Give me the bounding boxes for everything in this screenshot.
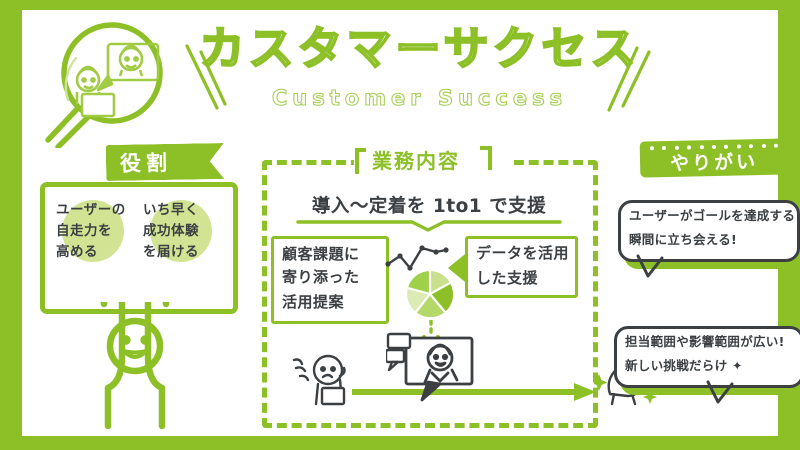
ribbon-role: 役割 [106, 144, 224, 180]
role-item-1-line-2: 自走力を [56, 221, 126, 242]
tag-reward-label: やりがい [640, 138, 789, 177]
role-board: ユーザーの 自走力を 高める いち早く 成功体験 を届ける [40, 182, 238, 314]
magnifier-icon [36, 18, 176, 148]
title-right-slashes [597, 44, 657, 124]
note-proposal-line-1: 顧客課題に [282, 243, 360, 266]
bubble-goal: ユーザーがゴールを達成する 瞬間に立ち会える! [618, 200, 800, 262]
support-agent-screen-icon [386, 330, 478, 406]
note-box-data: データを活用 した支援 [465, 236, 578, 298]
bubble-goal-line-2: 瞬間に立ち会える! [629, 229, 792, 251]
title-english: Customer Success [197, 86, 642, 110]
role-item-2-line-2: 成功体験 [143, 221, 199, 242]
note-data-line-2: した支援 [476, 267, 538, 290]
role-item-1-line-3: 高める [56, 242, 126, 263]
bubble-scope: 担当範囲や影響範囲が広い! 新しい挑戦だらけ ✦ [614, 326, 800, 388]
role-item-2: いち早く 成功体験 を届ける [143, 200, 199, 263]
bubble-scope-tail [702, 380, 752, 410]
note-proposal-line-2: 寄り添った [282, 266, 360, 289]
role-item-2-line-3: を届ける [143, 242, 199, 263]
title-japanese: カスタマーサクセス [197, 24, 642, 74]
troubled-user-icon [292, 350, 358, 406]
note-proposal-line-3: 活用提案 [282, 291, 344, 314]
work-headline-text: 導入〜定着を 1to1 で支援 [294, 192, 564, 218]
note-box-proposal: 顧客課題に 寄り添った 活用提案 [271, 236, 389, 324]
title-left-slashes [179, 42, 239, 122]
bubble-scope-line-1: 担当範囲や影響範囲が広い! [625, 331, 796, 353]
role-item-2-line-1: いち早く [143, 200, 199, 221]
bubble-goal-line-1: ユーザーがゴールを達成する [629, 205, 792, 227]
work-headline: 導入〜定着を 1to1 で支援 [294, 192, 564, 232]
headline-underline [294, 217, 564, 233]
tag-reward: やりがい [640, 140, 788, 176]
poster-canvas: カスタマーサクセス Customer Success 役割 ユーザーの 自走力を… [22, 10, 778, 436]
role-item-1-line-1: ユーザーの [56, 200, 126, 221]
work-section-header: 業務内容 [354, 144, 514, 178]
page-title: カスタマーサクセス Customer Success [197, 24, 642, 124]
person-holding-board-icon [62, 302, 222, 442]
pie-chart-icon [404, 268, 456, 320]
ribbon-role-label: 役割 [106, 143, 225, 181]
poster-background: カスタマーサクセス Customer Success 役割 ユーザーの 自走力を… [0, 0, 800, 450]
work-section-label: 業務内容 [372, 145, 460, 174]
bubble-scope-line-2: 新しい挑戦だらけ ✦ [625, 355, 796, 377]
bubble-goal-tail [632, 254, 682, 284]
note-data-line-1: データを活用 [476, 242, 569, 265]
role-item-1: ユーザーの 自走力を 高める [56, 200, 126, 263]
